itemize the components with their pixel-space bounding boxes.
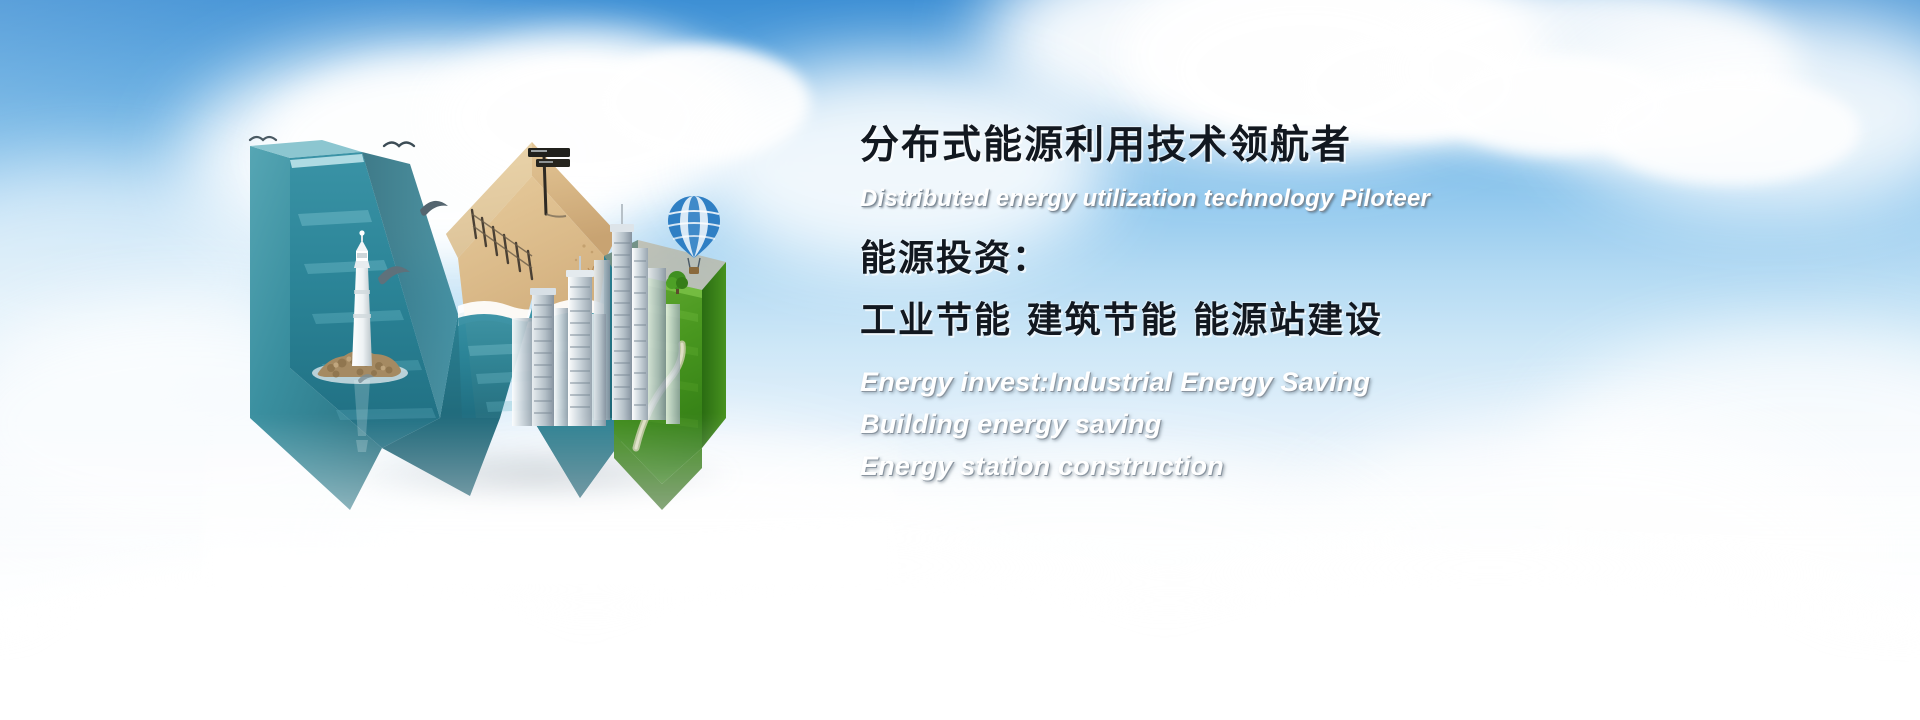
- service-english-3: Energy station construction: [860, 453, 1870, 480]
- service-english-1: Energy invest:Industrial Energy Saving: [860, 369, 1870, 396]
- service-english-2: Building energy saving: [860, 411, 1870, 438]
- seagull-flying: [420, 201, 448, 216]
- subtitle-english: Distributed energy utilization technolog…: [860, 187, 1870, 211]
- banner-stage: 分布式能源利用技术领航者 Distributed energy utilizat…: [0, 0, 1920, 720]
- headline-chinese: 分布式能源利用技术领航者: [860, 126, 1870, 165]
- seagull-icon: [250, 137, 276, 140]
- services-chinese: 工业节能 建筑节能 能源站建设: [860, 303, 1870, 339]
- banner-text-block: 分布式能源利用技术领航者 Distributed energy utilizat…: [860, 126, 1870, 480]
- section-label-chinese: 能源投资：: [860, 241, 1870, 277]
- w-letterform-sculpture: [232, 118, 852, 508]
